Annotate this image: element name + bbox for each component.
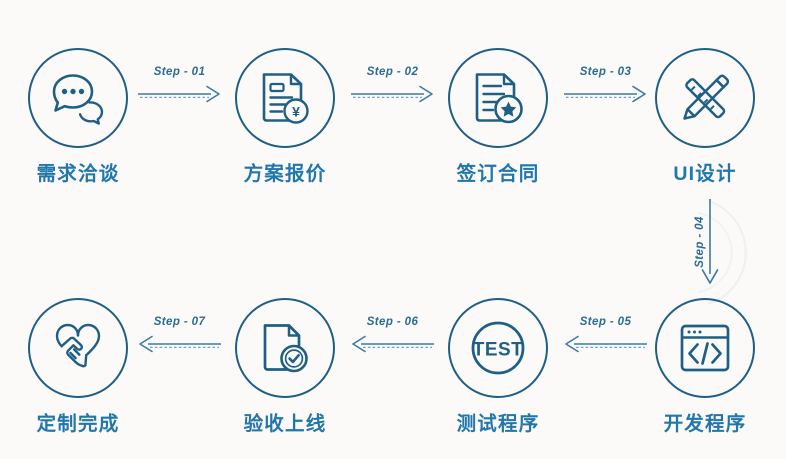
connector-step-03: Step - 03	[563, 66, 648, 106]
arrow-right-icon	[350, 83, 435, 105]
node-caption: 定制完成	[26, 407, 130, 436]
node-ring	[448, 48, 548, 148]
flow-node-6[interactable]: TEST 测试程序	[446, 298, 550, 436]
arrow-left-icon	[137, 333, 222, 355]
test-circle-icon: TEST	[465, 315, 531, 381]
node-ring: ¥	[235, 48, 335, 148]
document-check-icon	[258, 320, 312, 376]
arrow-left-icon	[563, 333, 648, 355]
node-caption: UI设计	[653, 157, 757, 186]
step-label: Step - 07	[154, 316, 206, 328]
node-caption: 开发程序	[653, 407, 757, 436]
connector-step-02: Step - 02	[350, 66, 435, 106]
flow-node-3[interactable]: 签订合同	[446, 48, 550, 186]
arrow-right-icon	[563, 83, 648, 105]
node-ring	[235, 298, 335, 398]
step-label: Step - 06	[367, 316, 419, 328]
chat-bubbles-icon	[49, 71, 107, 125]
flow-node-5[interactable]: 开发程序	[653, 298, 757, 436]
node-caption: 方案报价	[233, 157, 337, 186]
flow-node-4[interactable]: UI设计	[653, 48, 757, 186]
flow-node-8[interactable]: 定制完成	[26, 298, 130, 436]
flowchart-canvas: 需求洽谈 ¥ 方案报价	[0, 0, 800, 459]
node-ring: TEST	[448, 298, 548, 398]
flow-node-2[interactable]: ¥ 方案报价	[233, 48, 337, 186]
browser-code-icon	[677, 321, 733, 375]
arrow-left-icon	[350, 333, 435, 355]
node-caption: 签订合同	[446, 157, 550, 186]
connector-step-06: Step - 06	[350, 316, 435, 356]
node-caption: 测试程序	[446, 407, 550, 436]
test-badge-text: TEST	[473, 340, 524, 361]
step-label: Step - 05	[580, 316, 632, 328]
pencil-ruler-cross-icon	[676, 69, 734, 127]
flow-node-1[interactable]: 需求洽谈	[26, 48, 130, 186]
connector-step-01: Step - 01	[137, 66, 222, 106]
node-ring	[28, 298, 128, 398]
handshake-heart-icon	[48, 320, 108, 376]
node-caption: 需求洽谈	[26, 157, 130, 186]
svg-text:¥: ¥	[292, 104, 300, 120]
arrow-right-icon	[137, 83, 222, 105]
connector-step-05: Step - 05	[563, 316, 648, 356]
document-yen-icon: ¥	[258, 69, 312, 127]
step-label: Step - 03	[580, 66, 632, 78]
node-ring	[28, 48, 128, 148]
document-star-seal-icon	[471, 69, 525, 127]
node-caption: 验收上线	[233, 407, 337, 436]
connector-step-04: Step - 04	[676, 198, 736, 286]
node-ring	[655, 298, 755, 398]
arrow-down-icon	[698, 198, 722, 286]
connector-step-07: Step - 07	[137, 316, 222, 356]
node-ring	[655, 48, 755, 148]
step-label: Step - 01	[154, 66, 206, 78]
step-label: Step - 02	[367, 66, 419, 78]
flow-node-7[interactable]: 验收上线	[233, 298, 337, 436]
